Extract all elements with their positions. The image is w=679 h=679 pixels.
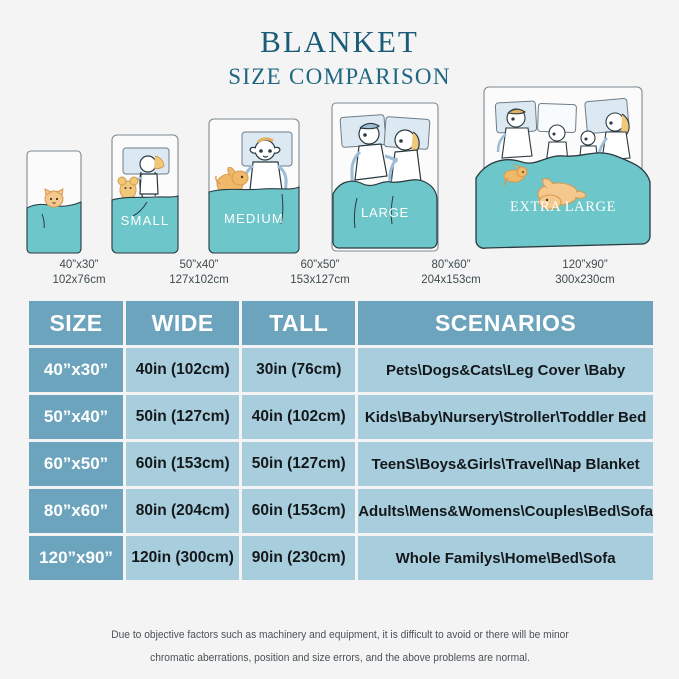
size-caption-50x40: 50”x40” 127x102cm (147, 258, 251, 292)
bed-cat-icon (26, 150, 82, 254)
bed-family-icon (470, 86, 656, 254)
cell-size: 120”x90” (29, 536, 123, 580)
cell-size: 50”x40” (29, 395, 123, 439)
page-title: BLANKET (0, 26, 679, 59)
bed-man-dog-icon (208, 118, 300, 254)
cell-scenarios: TeenS\Boys&Girls\Travel\Nap Blanket (358, 442, 653, 486)
cell-size: 40”x30” (29, 348, 123, 392)
cell-scenarios: Whole Familys\Home\Bed\Sofa (358, 536, 653, 580)
table-row: 40”x30” 40in (102cm) 30in (76cm) Pets\Do… (29, 348, 653, 392)
cell-tall: 60in (153cm) (242, 489, 355, 533)
infographic-root: BLANKET SIZE COMPARISON (0, 0, 679, 679)
caption-inches: 40”x30” (60, 259, 99, 271)
illustration-row: SMALL (26, 96, 656, 254)
cell-wide: 120in (300cm) (126, 536, 239, 580)
caption-inches: 80”x60” (432, 259, 471, 271)
table-row: 80”x60” 80in (204cm) 60in (153cm) Adults… (29, 489, 653, 533)
table-row: 120”x90” 120in (300cm) 90in (230cm) Whol… (29, 536, 653, 580)
illustration-panel-40x30 (26, 150, 82, 254)
caption-inches: 50”x40” (180, 259, 219, 271)
disclaimer-text: Due to objective factors such as machine… (50, 624, 630, 670)
disclaimer-line-1: Due to objective factors such as machine… (70, 624, 609, 647)
cell-wide: 60in (153cm) (126, 442, 239, 486)
disclaimer-line-2: chromatic aberrations, position and size… (70, 647, 609, 670)
size-caption-40x30: 40”x30” 102x76cm (30, 258, 128, 292)
table-row: 50”x40” 50in (127cm) 40in (102cm) Kids\B… (29, 395, 653, 439)
size-comparison-table: SIZE WIDE TALL SCENARIOS 40”x30” 40in (1… (26, 298, 656, 583)
caption-inches: 60”x50” (301, 259, 340, 271)
illustration-panel-120x90: EXTRA LARGE (470, 86, 656, 254)
caption-cm: 204x153cm (395, 273, 507, 288)
caption-cm: 127x102cm (147, 273, 251, 288)
cell-scenarios: Kids\Baby\Nursery\Stroller\Toddler Bed (358, 395, 653, 439)
column-header-wide: WIDE (126, 301, 239, 345)
title-block: BLANKET SIZE COMPARISON (0, 0, 679, 90)
size-caption-60x50: 60”x50” 153x127cm (264, 258, 376, 292)
caption-inches: 120”x90” (562, 259, 607, 271)
cell-tall: 40in (102cm) (242, 395, 355, 439)
cell-size: 80”x60” (29, 489, 123, 533)
cell-wide: 80in (204cm) (126, 489, 239, 533)
size-caption-row: 40”x30” 102x76cm 50”x40” 127x102cm 60”x5… (26, 258, 656, 292)
cell-tall: 50in (127cm) (242, 442, 355, 486)
cell-scenarios: Adults\Mens&Womens\Couples\Bed\Sofa (358, 489, 653, 533)
cell-tall: 90in (230cm) (242, 536, 355, 580)
column-header-tall: TALL (242, 301, 355, 345)
illustration-panel-80x60: LARGE (329, 102, 441, 254)
bed-child-icon (111, 134, 179, 254)
caption-cm: 153x127cm (264, 273, 376, 288)
caption-cm: 300x230cm (520, 273, 650, 288)
column-header-size: SIZE (29, 301, 123, 345)
table-row: 60”x50” 60in (153cm) 50in (127cm) TeenS\… (29, 442, 653, 486)
bed-couple-icon (329, 102, 441, 254)
table-header-row: SIZE WIDE TALL SCENARIOS (29, 301, 653, 345)
cell-tall: 30in (76cm) (242, 348, 355, 392)
cell-wide: 50in (127cm) (126, 395, 239, 439)
illustration-panel-50x40: SMALL (111, 134, 179, 254)
size-caption-120x90: 120”x90” 300x230cm (520, 258, 650, 292)
cell-scenarios: Pets\Dogs&Cats\Leg Cover \Baby (358, 348, 653, 392)
column-header-scenarios: SCENARIOS (358, 301, 653, 345)
cell-wide: 40in (102cm) (126, 348, 239, 392)
size-caption-80x60: 80”x60” 204x153cm (395, 258, 507, 292)
illustration-panel-60x50: MEDIUM (208, 118, 300, 254)
cell-size: 60”x50” (29, 442, 123, 486)
caption-cm: 102x76cm (30, 273, 128, 288)
